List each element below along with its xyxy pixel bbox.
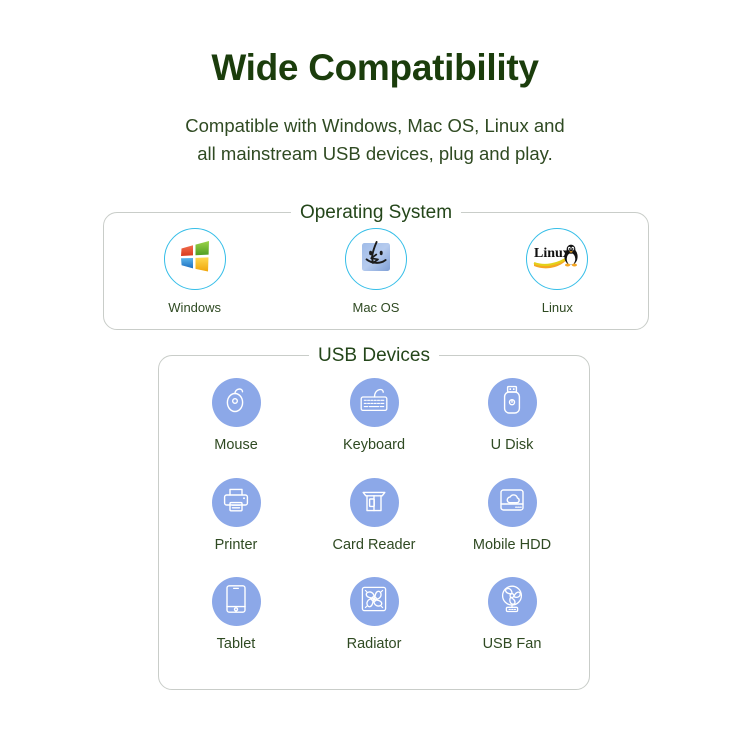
operating-system-panel: Operating System	[103, 212, 649, 330]
os-icon-ring-linux: Linux	[526, 228, 588, 290]
os-icon-ring-windows	[164, 228, 226, 290]
radiator-fan-icon	[360, 585, 388, 618]
os-item-macos[interactable]: Mac OS	[301, 228, 451, 315]
usb-icon-circle-usb-fan	[488, 577, 537, 626]
usb-item-mobile-hdd[interactable]: Mobile HDD	[443, 478, 581, 578]
usb-item-label-radiator: Radiator	[305, 636, 443, 652]
mouse-icon	[222, 386, 250, 419]
usb-item-keyboard[interactable]: Keyboard	[305, 378, 443, 478]
usb-item-label-card-reader: Card Reader	[305, 537, 443, 553]
page-subtitle-line-1: Compatible with Windows, Mac OS, Linux a…	[0, 112, 750, 141]
usb-icon-circle-radiator	[350, 577, 399, 626]
usb-devices-panel: USB Devices Mouse	[158, 355, 590, 690]
printer-icon	[222, 486, 250, 519]
os-icon-ring-macos	[345, 228, 407, 290]
usb-item-label-printer: Printer	[167, 537, 305, 553]
operating-system-panel-legend: Operating System	[291, 201, 461, 224]
usb-item-u-disk[interactable]: U Disk	[443, 378, 581, 478]
usb-icon-circle-card-reader	[350, 478, 399, 527]
usb-icon-circle-mouse	[212, 378, 261, 427]
mac-finder-face-icon	[358, 239, 394, 280]
usb-flash-drive-icon	[500, 385, 524, 420]
usb-item-label-usb-fan: USB Fan	[443, 636, 581, 652]
usb-item-printer[interactable]: Printer	[167, 478, 305, 578]
usb-item-card-reader[interactable]: Card Reader	[305, 478, 443, 578]
windows-logo-icon	[176, 238, 214, 281]
usb-item-label-u-disk: U Disk	[443, 437, 581, 453]
keyboard-icon	[359, 386, 389, 419]
usb-devices-panel-legend: USB Devices	[309, 344, 439, 367]
os-item-label-macos: Mac OS	[301, 300, 451, 315]
usb-fan-icon	[498, 584, 526, 619]
usb-item-label-keyboard: Keyboard	[305, 437, 443, 453]
usb-item-usb-fan[interactable]: USB Fan	[443, 577, 581, 677]
usb-item-mouse[interactable]: Mouse	[167, 378, 305, 478]
os-item-windows[interactable]: Windows	[120, 228, 270, 315]
external-hard-drive-icon	[498, 486, 526, 519]
os-item-label-linux: Linux	[482, 300, 632, 315]
usb-item-label-mobile-hdd: Mobile HDD	[443, 537, 581, 553]
usb-item-label-tablet: Tablet	[167, 636, 305, 652]
linux-tux-logo-icon: Linux	[532, 239, 582, 280]
usb-icon-circle-keyboard	[350, 378, 399, 427]
usb-icon-circle-tablet	[212, 577, 261, 626]
usb-item-radiator[interactable]: Radiator	[305, 577, 443, 677]
page-subtitle-line-2: all mainstream USB devices, plug and pla…	[0, 140, 750, 169]
page-title: Wide Compatibility	[0, 0, 750, 90]
page-subtitle: Compatible with Windows, Mac OS, Linux a…	[0, 90, 750, 169]
tablet-icon	[224, 584, 248, 619]
os-item-linux[interactable]: Linux	[482, 228, 632, 315]
usb-icon-circle-mobile-hdd	[488, 478, 537, 527]
usb-item-label-mouse: Mouse	[167, 437, 305, 453]
usb-item-tablet[interactable]: Tablet	[167, 577, 305, 677]
usb-icon-circle-printer	[212, 478, 261, 527]
usb-devices-grid: Mouse Keyboard	[159, 356, 589, 689]
usb-icon-circle-u-disk	[488, 378, 537, 427]
card-reader-icon	[360, 486, 388, 519]
operating-system-list: Windows	[104, 213, 648, 329]
os-item-label-windows: Windows	[120, 300, 270, 315]
